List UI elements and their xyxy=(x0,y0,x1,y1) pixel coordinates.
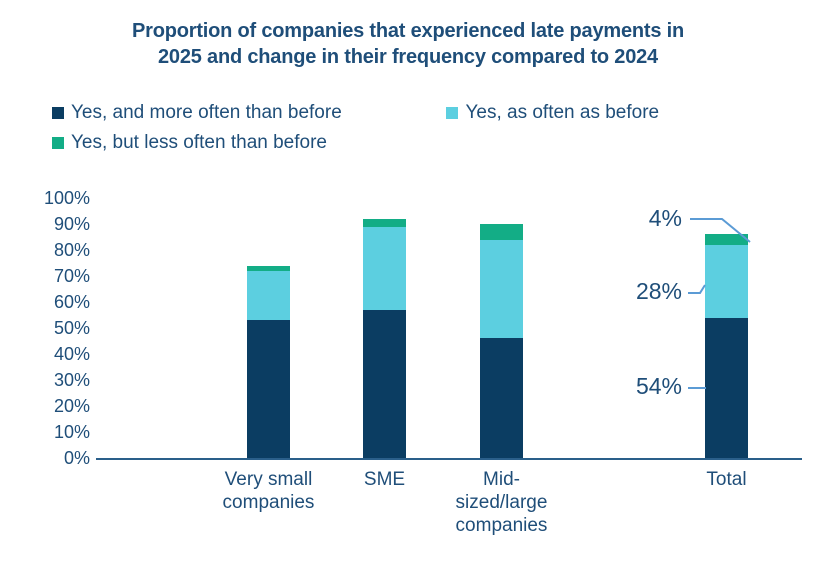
bar-segment-yes-and-more-often-than-before-3[interactable] xyxy=(705,318,748,458)
data-label-as-often-total: 28% xyxy=(592,278,682,305)
chart-plot-area: 100%90%80%70%60%50%40%30%20%10%0% Very s… xyxy=(0,0,816,565)
y-axis-tick-40: 40% xyxy=(14,345,90,363)
y-axis-tick-20: 20% xyxy=(14,397,90,415)
bar-segment-yes-as-often-as-before-3[interactable] xyxy=(705,245,748,318)
y-axis-tick-80: 80% xyxy=(14,241,90,259)
y-axis-tick-90: 90% xyxy=(14,215,90,233)
data-label-more-often-total: 54% xyxy=(592,373,682,400)
y-axis-tick-60: 60% xyxy=(14,293,90,311)
y-axis-tick-30: 30% xyxy=(14,371,90,389)
y-axis-tick-0: 0% xyxy=(14,449,90,467)
bar-group-total[interactable] xyxy=(705,234,748,458)
category-label-line: sized/large xyxy=(427,491,577,514)
bar-segment-yes-and-more-often-than-before-1[interactable] xyxy=(363,310,406,458)
x-axis-line xyxy=(96,458,802,460)
y-axis-tick-50: 50% xyxy=(14,319,90,337)
bar-segment-yes-but-less-often-than-before-3[interactable] xyxy=(705,234,748,244)
bar-segment-yes-and-more-often-than-before-2[interactable] xyxy=(480,338,523,458)
bar-segment-yes-as-often-as-before-2[interactable] xyxy=(480,240,523,339)
data-label-less-often-total: 4% xyxy=(612,205,682,232)
bar-segment-yes-and-more-often-than-before-0[interactable] xyxy=(247,320,290,458)
leader-line-as-often xyxy=(688,285,705,293)
bar-segment-yes-as-often-as-before-0[interactable] xyxy=(247,271,290,320)
category-label-3: Total xyxy=(652,468,802,491)
bar-segment-yes-but-less-often-than-before-2[interactable] xyxy=(480,224,523,240)
category-label-line: companies xyxy=(194,491,344,514)
bar-group-very-small-companies[interactable] xyxy=(247,266,290,458)
y-axis-tick-70: 70% xyxy=(14,267,90,285)
category-label-line: Mid- xyxy=(427,468,577,491)
y-axis-tick-10: 10% xyxy=(14,423,90,441)
bar-segment-yes-but-less-often-than-before-1[interactable] xyxy=(363,219,406,227)
bar-segment-yes-as-often-as-before-1[interactable] xyxy=(363,227,406,310)
bar-group-sme[interactable] xyxy=(363,219,406,458)
category-label-2: Mid-sized/largecompanies xyxy=(427,468,577,537)
y-axis-tick-100: 100% xyxy=(14,189,90,207)
category-label-line: companies xyxy=(427,514,577,537)
bar-group-mid-sized-large-companies[interactable] xyxy=(480,224,523,458)
category-label-line: Total xyxy=(652,468,802,491)
